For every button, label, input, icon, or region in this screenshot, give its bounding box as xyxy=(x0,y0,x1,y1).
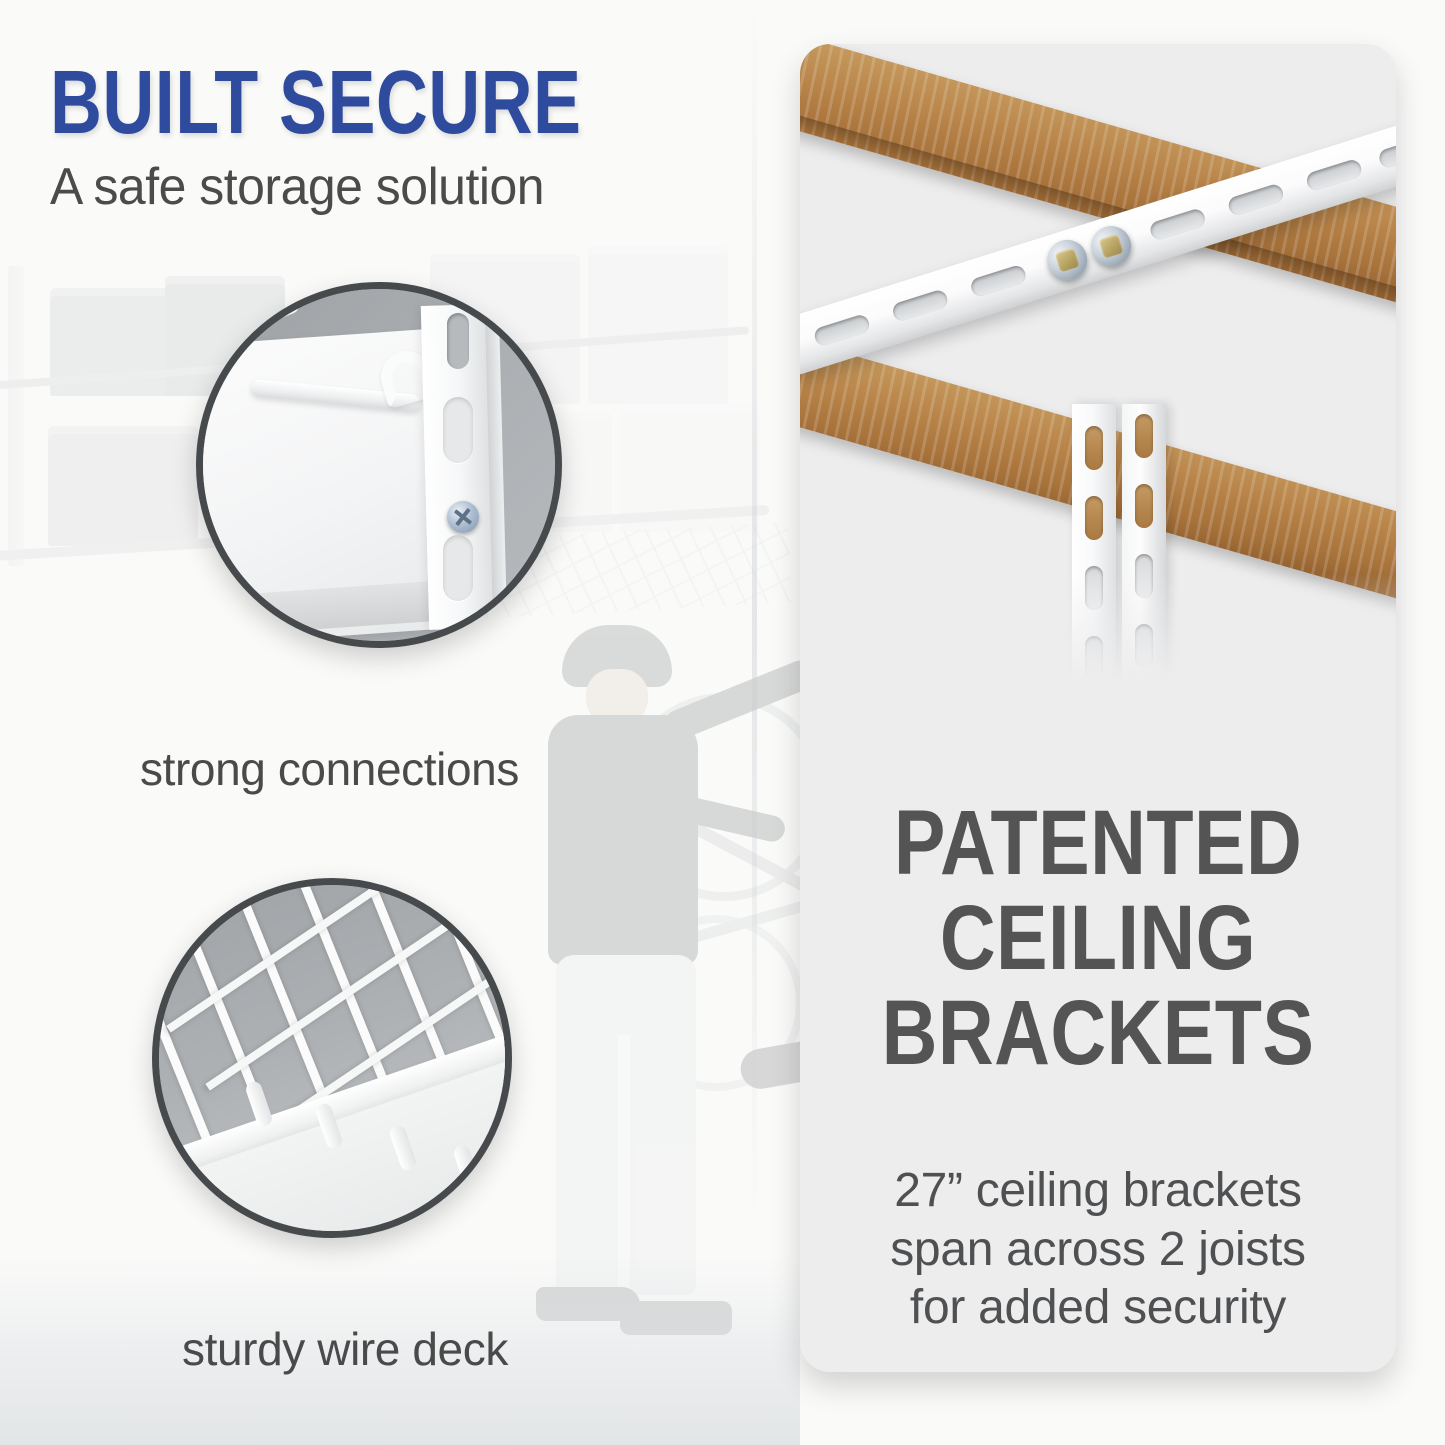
page-subtitle: A safe storage solution xyxy=(50,160,722,215)
wall-edge xyxy=(752,0,757,1230)
nut xyxy=(1055,247,1080,272)
bracket-slot xyxy=(969,264,1028,299)
bracket-slot xyxy=(1148,207,1207,242)
keyhole-slot xyxy=(1085,426,1103,470)
helmet xyxy=(562,625,672,687)
shoe xyxy=(536,1287,640,1321)
wire-deck-grid-closeup-photo xyxy=(159,885,505,1231)
keyhole-slot xyxy=(1085,496,1103,540)
card-body-line-3: for added security xyxy=(822,1279,1374,1338)
feature-circle-strong-connections xyxy=(196,282,562,648)
legs xyxy=(556,955,696,1295)
card-body-line-2: span across 2 joists xyxy=(822,1221,1374,1280)
keyhole-slot xyxy=(1135,484,1153,528)
shoe xyxy=(620,1301,732,1335)
caption-strong-connections: strong connections xyxy=(140,742,519,796)
ceiling-bracket-on-wood-joists-photo xyxy=(800,44,1396,724)
caption-sturdy-wire-deck: sturdy wire deck xyxy=(182,1322,508,1376)
keyhole-slot xyxy=(1135,414,1153,458)
bracket-slot xyxy=(812,313,871,348)
torso xyxy=(548,715,698,965)
headline-block: BUILT SECURE A safe storage solution xyxy=(50,62,750,214)
card-title: PATENTED CEILING BRACKETS xyxy=(800,796,1396,1080)
raised-arm xyxy=(660,656,820,744)
feature-circle-sturdy-wire-deck xyxy=(152,878,512,1238)
patented-ceiling-brackets-card: PATENTED CEILING BRACKETS 27” ceiling br… xyxy=(800,44,1396,1372)
background-cyclist-lifting-bike xyxy=(490,615,820,1385)
card-title-line-3: BRACKETS xyxy=(848,986,1349,1081)
bracket-slot xyxy=(891,288,950,323)
bracket-slot xyxy=(1226,182,1285,217)
shelf-post xyxy=(8,266,24,566)
storage-bin xyxy=(620,406,760,532)
leg-gap xyxy=(618,1035,630,1297)
storage-bin xyxy=(588,246,728,404)
bolt-washer xyxy=(1086,221,1136,271)
phillips-screw-icon xyxy=(447,501,479,533)
card-body-line-1: 27” ceiling brackets xyxy=(822,1162,1374,1221)
storage-bin xyxy=(50,288,180,396)
storage-bin xyxy=(48,426,198,546)
keyhole-slot xyxy=(443,535,473,601)
nut xyxy=(1099,233,1124,258)
card-title-line-2: CEILING xyxy=(848,891,1349,986)
bicycle-wheel xyxy=(620,693,828,901)
lower-arm xyxy=(665,792,788,844)
bolt-washer xyxy=(1042,235,1092,285)
bracket-slot xyxy=(1305,158,1364,193)
bracket-screw-closeup-photo xyxy=(203,289,555,641)
page-title: BUILT SECURE xyxy=(50,62,610,146)
face xyxy=(586,669,648,725)
photo-fade-overlay xyxy=(800,574,1396,724)
card-body-text: 27” ceiling brackets span across 2 joist… xyxy=(822,1162,1374,1338)
card-title-line-1: PATENTED xyxy=(848,796,1349,891)
keyhole-slot xyxy=(443,397,473,463)
bracket-slot xyxy=(1377,135,1396,170)
bicycle-wheel xyxy=(628,915,804,1091)
upright-slot xyxy=(447,313,469,369)
